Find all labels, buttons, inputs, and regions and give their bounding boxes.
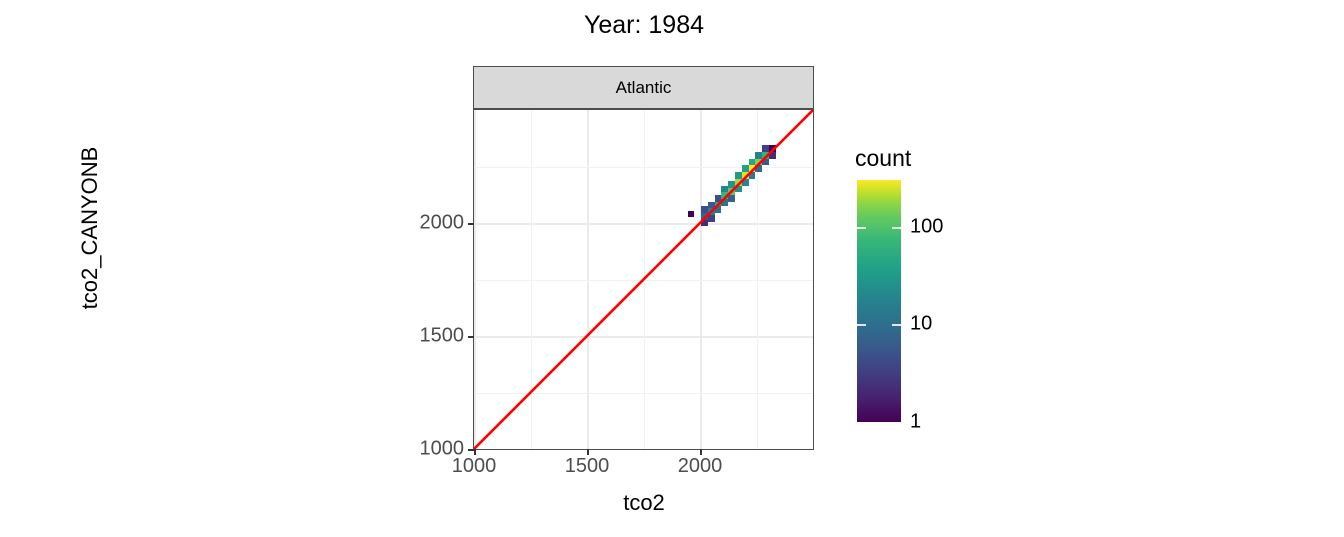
- hex-bin: [769, 152, 776, 159]
- y-axis-title: tco2_CANYONB: [77, 58, 103, 398]
- hex-bin: [769, 145, 776, 152]
- hex-bin: [735, 172, 742, 179]
- page-title: Year: 1984: [474, 10, 814, 40]
- hex-bin: [728, 195, 735, 202]
- facet-strip: Atlantic: [473, 66, 814, 109]
- facet-strip-label: Atlantic: [616, 78, 672, 98]
- legend-label-10: 10: [910, 313, 932, 336]
- plot-panel: [473, 109, 814, 450]
- hex-bin: [708, 208, 715, 215]
- hex-bin: [755, 152, 762, 159]
- hex-bin: [749, 172, 756, 179]
- legend-title: count: [855, 145, 911, 172]
- x-tick-label-2000: 2000: [678, 455, 723, 478]
- hex-bin: [742, 172, 749, 179]
- x-tick-label-1500: 1500: [565, 455, 610, 478]
- legend-tick-mark-10: [892, 324, 901, 326]
- hex-bin: [721, 192, 728, 199]
- gridline-y-1000: [474, 449, 813, 450]
- hex-bin: [728, 181, 735, 188]
- hex-bin: [688, 211, 695, 218]
- hex-bin: [715, 195, 722, 202]
- hex-bin: [721, 199, 728, 206]
- hex-bin: [762, 159, 769, 166]
- legend-tick-mark-100: [857, 227, 866, 229]
- y-tick-mark-2000: [468, 223, 474, 225]
- hex-bin: [762, 145, 769, 152]
- hex-bin: [749, 165, 756, 172]
- panel-inner: [474, 110, 813, 449]
- legend-tick-mark-1: [857, 422, 866, 424]
- hex-bin: [728, 188, 735, 195]
- hex-bin: [715, 206, 722, 213]
- ggplot-figure: Year: 1984 Atlantic 100015002000 1000150…: [0, 0, 1344, 537]
- hex-bin: [749, 159, 756, 166]
- legend-tick-mark-10: [857, 324, 866, 326]
- legend-tick-mark-100: [892, 227, 901, 229]
- legend-label-100: 100: [910, 215, 943, 238]
- legend-tick-mark-1: [892, 422, 901, 424]
- y-tick-mark-1500: [468, 336, 474, 338]
- legend-colorbar: [857, 180, 901, 422]
- hex-bin: [701, 206, 708, 213]
- hex-bin: [701, 220, 708, 227]
- y-tick-mark-1000: [468, 449, 474, 451]
- hex-bin: [755, 165, 762, 172]
- hex-bin: [721, 186, 728, 193]
- hex-bin: [708, 202, 715, 209]
- hex-bin: [762, 152, 769, 159]
- x-axis-title: tco2: [474, 490, 814, 516]
- hex-bin: [742, 179, 749, 186]
- legend-label-1: 1: [910, 411, 921, 434]
- hex-bin: [735, 186, 742, 193]
- y-tick-label-1500: 1500: [344, 325, 464, 348]
- y-tick-label-1000: 1000: [344, 438, 464, 461]
- gridline-x-1250: [531, 110, 532, 449]
- hex-bin: [755, 159, 762, 166]
- hex-bin: [708, 215, 715, 222]
- hex-bin: [742, 165, 749, 172]
- y-tick-label-2000: 2000: [344, 212, 464, 235]
- hex-bin: [701, 213, 708, 220]
- gridline-x-1750: [644, 110, 645, 449]
- hex-bin: [735, 179, 742, 186]
